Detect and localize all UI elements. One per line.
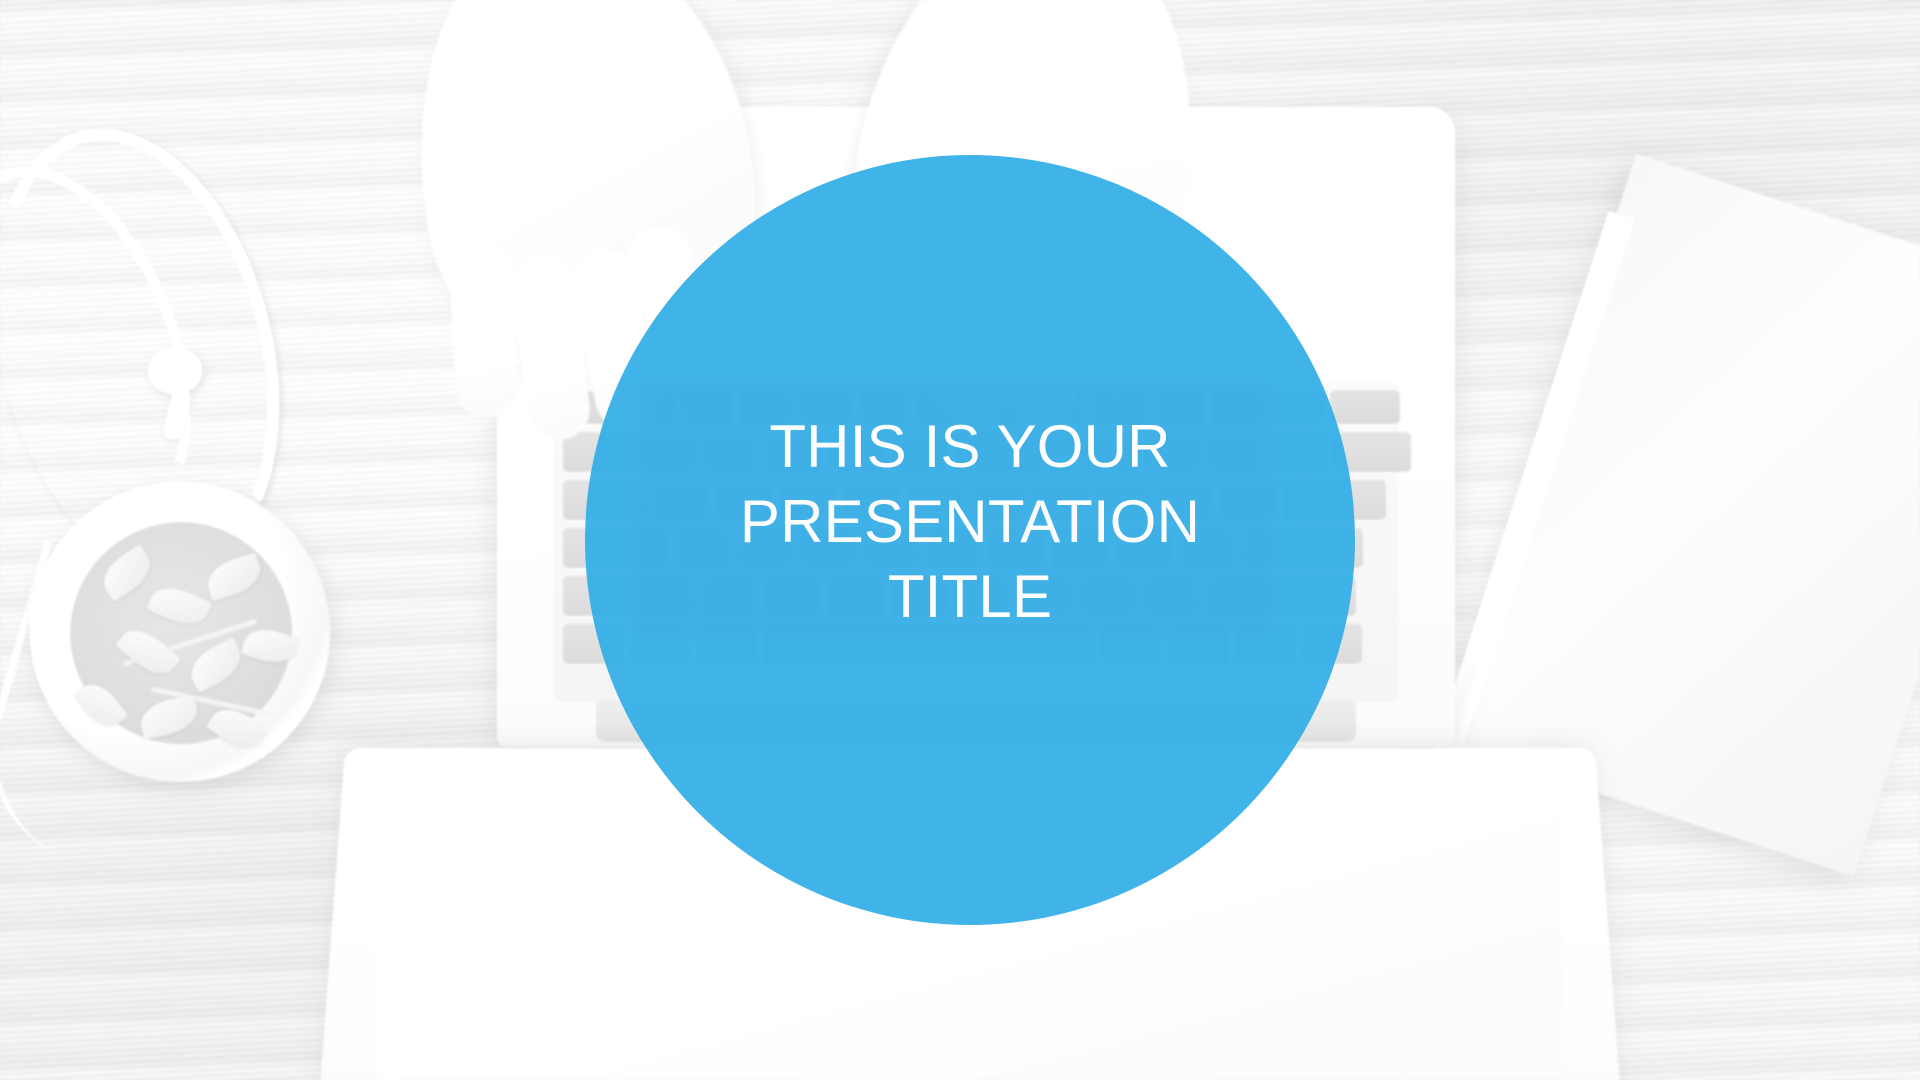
page-title: THIS IS YOUR PRESENTATION TITLE: [690, 409, 1250, 634]
title-circle-overlay: THIS IS YOUR PRESENTATION TITLE: [585, 155, 1355, 925]
presentation-slide: THIS IS YOUR PRESENTATION TITLE: [0, 0, 1920, 1080]
earbud-left: [148, 348, 202, 394]
